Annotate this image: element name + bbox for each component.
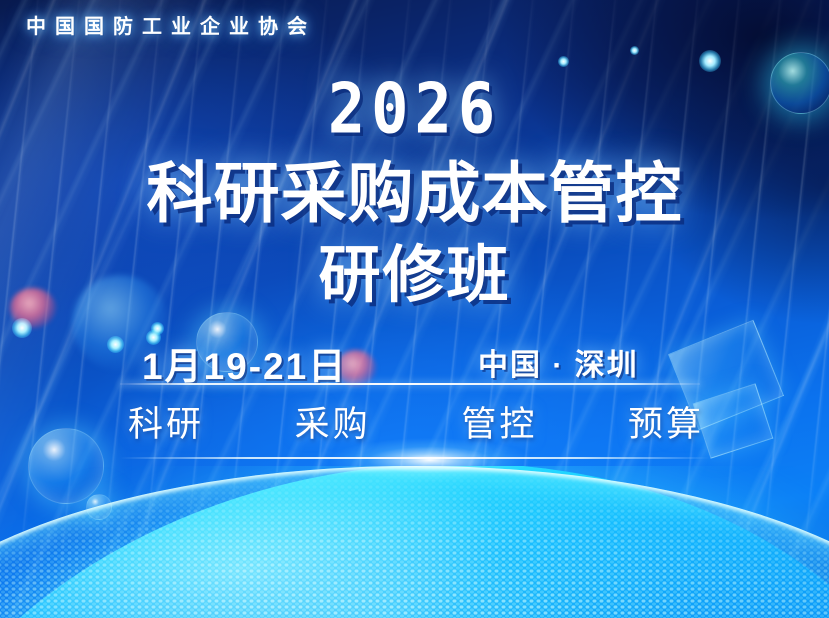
keyword-item: 预算: [628, 396, 704, 447]
keyword-list: 科研 采购 管控 预算: [128, 396, 704, 447]
association-name: 中国国防工业企业协会: [26, 10, 316, 39]
light-dot-e: [558, 56, 569, 67]
keyword-item: 采购: [295, 396, 371, 447]
event-meta-row: 1月19-21日 中国 · 深圳: [0, 336, 829, 382]
event-location: 中国 · 深圳: [478, 340, 639, 384]
light-dot-f: [630, 46, 639, 55]
event-date: 1月19-21日: [142, 336, 347, 390]
page-title-line2: 研修班: [0, 224, 829, 314]
event-poster: 中国国防工业企业协会 2026 科研采购成本管控 研修班 1月19-21日 中国…: [0, 0, 829, 618]
keyword-item: 管控: [461, 396, 537, 447]
light-dot-g: [12, 318, 32, 338]
page-title-line1: 科研采购成本管控: [0, 140, 829, 236]
keyword-item: 科研: [128, 396, 204, 447]
event-year: 2026: [0, 68, 829, 150]
meta-divider: [120, 383, 700, 385]
light-dot-d: [151, 322, 164, 335]
